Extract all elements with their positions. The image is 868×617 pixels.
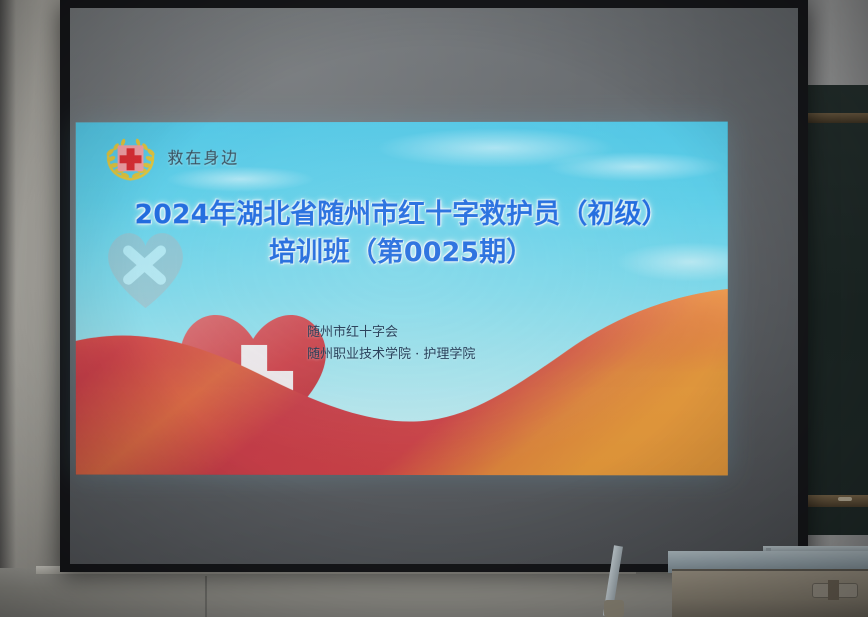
red-cross-laurel-logo: [102, 134, 160, 182]
slide-slogan: 救在身边: [167, 144, 239, 168]
slide-subtitle-line-2: 随州职业技术学院 · 护理学院: [307, 344, 475, 366]
lectern-latch-handle: [828, 580, 839, 600]
slide-subtitle-block: 随州市红十字会 随州职业技术学院 · 护理学院: [307, 322, 475, 366]
left-wall-shadow: [0, 0, 16, 617]
red-orange-wave-graphic: [76, 285, 728, 475]
projected-slide: 救在身边: [76, 122, 728, 476]
cloud-wisp: [615, 242, 727, 282]
wall-seam: [205, 576, 207, 617]
cloud-wisp: [165, 166, 315, 192]
cloud-wisp: [375, 128, 615, 168]
slide-subtitle-line-1: 随州市红十字会: [307, 322, 475, 344]
chalk-piece: [838, 497, 852, 501]
pointer-pole-base: [604, 600, 624, 617]
classroom-scene: 救在身边: [0, 0, 868, 617]
cloud-wisp: [545, 152, 726, 182]
